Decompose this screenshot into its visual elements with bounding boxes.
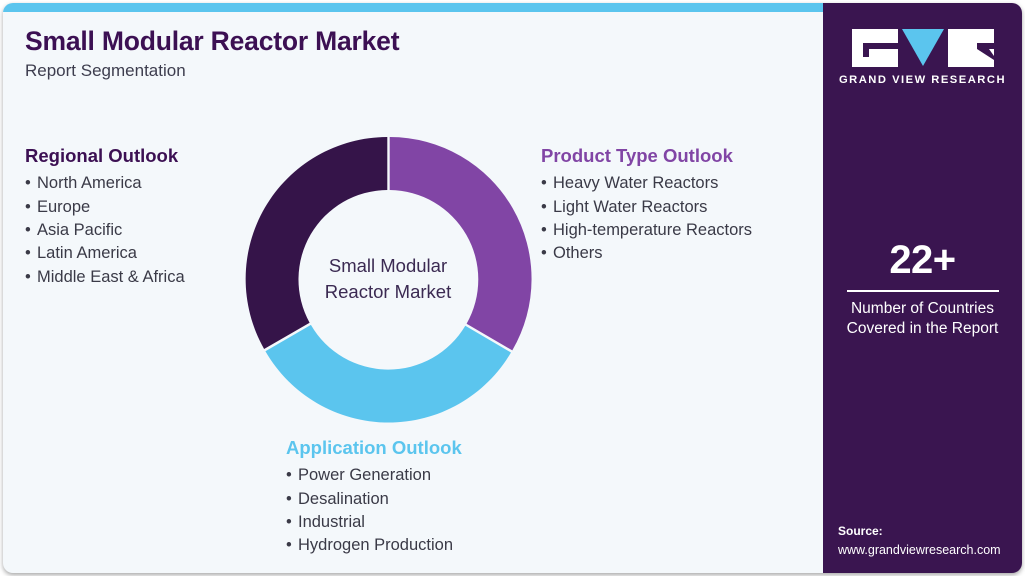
product-type-outlook-list: •Heavy Water Reactors •Light Water React… (541, 172, 752, 266)
application-outlook-list: •Power Generation •Desalination •Industr… (286, 464, 462, 558)
list-item-label: Industrial (298, 513, 365, 531)
stat-block: 22+ Number of Countries Covered in the R… (823, 239, 1022, 339)
regional-outlook-list: •North America •Europe •Asia Pacific •La… (25, 172, 185, 289)
list-item-label: Middle East & Africa (37, 268, 185, 286)
donut-segment-product-type[interactable] (390, 137, 532, 350)
bullet-icon: • (541, 196, 553, 219)
list-item-label: Heavy Water Reactors (553, 174, 718, 192)
bullet-icon: • (25, 172, 37, 195)
bullet-icon: • (286, 534, 298, 557)
list-item-label: High-temperature Reactors (553, 221, 752, 239)
product-type-outlook-block: Product Type Outlook •Heavy Water Reacto… (541, 145, 752, 266)
bullet-icon: • (25, 219, 37, 242)
list-item-label: Asia Pacific (37, 221, 122, 239)
list-item: •Europe (25, 196, 185, 219)
list-item: •Hydrogen Production (286, 534, 462, 557)
stat-caption-line-2: Covered in the Report (823, 319, 1022, 339)
list-item: •Desalination (286, 488, 462, 511)
donut-chart: Small Modular Reactor Market (243, 134, 533, 424)
list-item: •Light Water Reactors (541, 196, 752, 219)
gvr-logo-icon (852, 29, 994, 67)
top-accent-bar (3, 3, 823, 12)
list-item-label: Others (553, 244, 603, 262)
list-item: •Middle East & Africa (25, 266, 185, 289)
list-item: •North America (25, 172, 185, 195)
infographic-card: Small Modular Reactor Market Report Segm… (3, 3, 1022, 573)
bullet-icon: • (286, 464, 298, 487)
bullet-icon: • (25, 266, 37, 289)
infographic-root: Small Modular Reactor Market Report Segm… (0, 0, 1025, 576)
bullet-icon: • (286, 511, 298, 534)
list-item-label: Hydrogen Production (298, 536, 453, 554)
list-item: •High-temperature Reactors (541, 219, 752, 242)
bullet-icon: • (25, 242, 37, 265)
donut-segment-application[interactable] (265, 325, 511, 423)
logo-triangle-icon (902, 29, 944, 66)
regional-outlook-heading: Regional Outlook (25, 145, 185, 167)
bullet-icon: • (541, 242, 553, 265)
source-label: Source: (838, 523, 1022, 540)
list-item: •Asia Pacific (25, 219, 185, 242)
application-outlook-heading: Application Outlook (286, 437, 462, 459)
side-panel: GRAND VIEW RESEARCH 22+ Number of Countr… (823, 3, 1022, 573)
application-outlook-block: Application Outlook •Power Generation •D… (286, 437, 462, 558)
list-item-label: North America (37, 174, 142, 192)
list-item-label: Power Generation (298, 466, 431, 484)
stat-value: 22+ (823, 239, 1022, 281)
regional-outlook-block: Regional Outlook •North America •Europe … (25, 145, 185, 289)
list-item-label: Europe (37, 198, 90, 216)
list-item: •Latin America (25, 242, 185, 265)
list-item-label: Latin America (37, 244, 137, 262)
list-item: •Industrial (286, 511, 462, 534)
bullet-icon: • (286, 488, 298, 511)
logo-wordmark: GRAND VIEW RESEARCH (839, 74, 1006, 86)
list-item: •Others (541, 242, 752, 265)
stat-divider (847, 290, 999, 292)
source-url[interactable]: www.grandviewresearch.com (838, 541, 1022, 559)
bullet-icon: • (25, 196, 37, 219)
list-item-label: Light Water Reactors (553, 198, 707, 216)
product-type-outlook-heading: Product Type Outlook (541, 145, 752, 167)
list-item: •Power Generation (286, 464, 462, 487)
page-title: Small Modular Reactor Market (25, 26, 785, 56)
bullet-icon: • (541, 219, 553, 242)
source-block: Source: www.grandviewresearch.com (838, 523, 1022, 559)
brand-logo: GRAND VIEW RESEARCH (823, 29, 1022, 86)
list-item: •Heavy Water Reactors (541, 172, 752, 195)
donut-chart-svg (243, 134, 533, 424)
page-subtitle: Report Segmentation (25, 61, 785, 81)
donut-segment-regional[interactable] (246, 137, 388, 349)
header: Small Modular Reactor Market Report Segm… (25, 26, 785, 82)
stat-caption-line-1: Number of Countries (823, 299, 1022, 319)
bullet-icon: • (541, 172, 553, 195)
list-item-label: Desalination (298, 490, 389, 508)
